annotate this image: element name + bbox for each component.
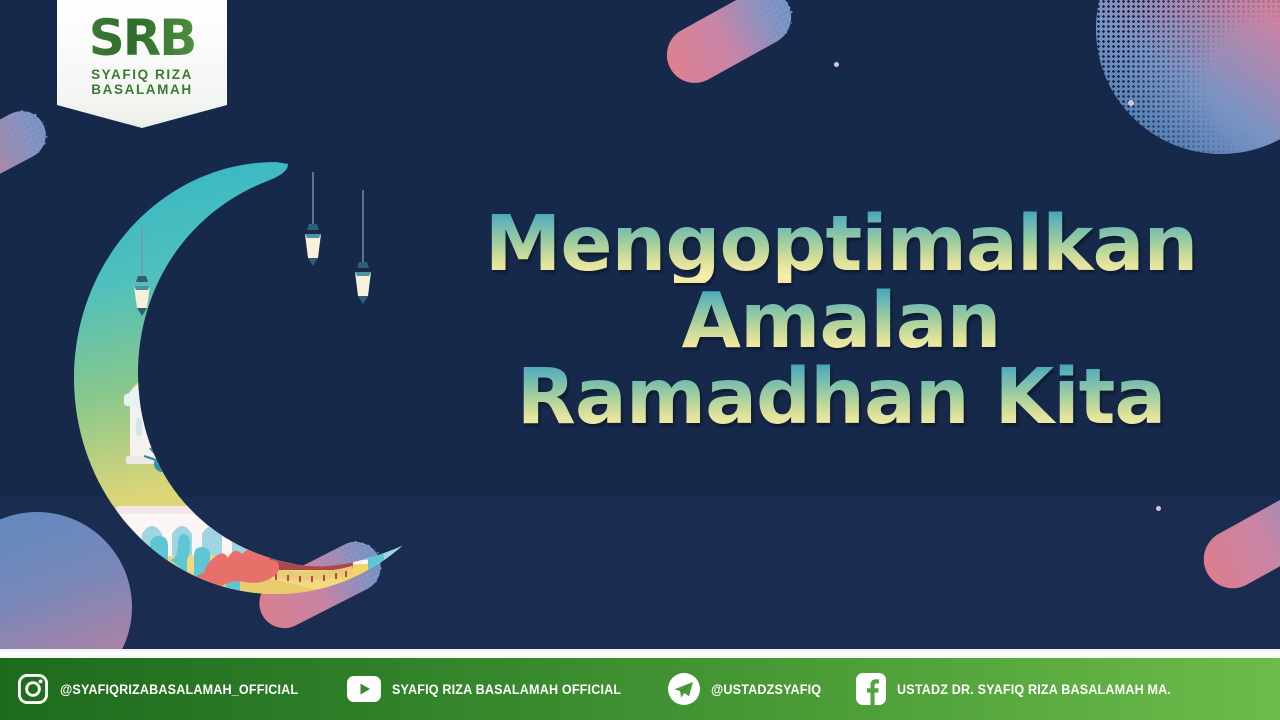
banner-canvas: SRB SYAFIQ RIZA BASALAMAH — [0, 0, 1280, 720]
stipple-texture — [1096, 0, 1280, 154]
brand-name-line2: BASALAMAH — [91, 82, 192, 97]
title-line-2: Amalan — [446, 285, 1236, 360]
crescent-moon — [74, 162, 402, 594]
instagram-icon — [16, 672, 50, 706]
telegram-icon — [667, 672, 701, 706]
minaret-left — [164, 315, 204, 374]
facebook-icon — [855, 672, 887, 706]
dome-main-gold — [274, 218, 384, 512]
instagram-handle: @SYAFIQRIZABASALAMAH_OFFICIAL — [60, 682, 298, 697]
social-item-youtube[interactable]: SYAFIQ RIZA BASALAMAH OFFICIAL — [346, 658, 639, 720]
palm-burst — [144, 444, 424, 482]
social-item-telegram[interactable]: @USTADZSYAFIQ — [667, 658, 830, 720]
social-item-facebook[interactable]: USTADZ DR. SYAFIQ RIZA BASALAMAH MA. — [855, 658, 1192, 720]
youtube-handle: SYAFIQ RIZA BASALAMAH OFFICIAL — [392, 682, 621, 697]
social-footer-bar: @SYAFIQRIZABASALAMAH_OFFICIAL SYAFIQ RIZ… — [0, 658, 1280, 720]
decorative-circle-top-right — [1096, 0, 1280, 154]
lantern — [305, 172, 321, 266]
facebook-handle: USTADZ DR. SYAFIQ RIZA BASALAMAH MA. — [897, 682, 1171, 697]
decorative-pill-top — [657, 0, 801, 93]
footer-divider — [0, 649, 1280, 658]
ramadhan-illustration — [38, 152, 478, 602]
brand-name-line1: SYAFIQ RIZA — [91, 67, 193, 82]
clouds — [126, 280, 426, 426]
dome-right — [354, 344, 426, 509]
youtube-icon — [346, 675, 382, 703]
brand-logo[interactable]: SRB SYAFIQ RIZA BASALAMAH — [57, 0, 227, 128]
decorative-dot — [1128, 100, 1134, 106]
title-line-1: Mengoptimalkan — [446, 208, 1236, 283]
social-item-instagram[interactable]: @SYAFIQRIZABASALAMAH_OFFICIAL — [16, 658, 316, 720]
pill-dot-trail — [715, 0, 803, 61]
pill-body — [657, 0, 801, 93]
telegram-handle: @USTADZSYAFIQ — [711, 682, 821, 697]
decorative-dot — [834, 62, 839, 67]
page-title: Mengoptimalkan Amalan Ramadhan Kita — [446, 208, 1236, 436]
title-line-3: Ramadhan Kita — [446, 361, 1236, 436]
minaret-main-left — [186, 261, 258, 506]
dome-middle — [242, 324, 316, 497]
brand-monogram: SRB — [89, 13, 196, 63]
lantern — [355, 190, 371, 304]
camel — [316, 478, 381, 558]
